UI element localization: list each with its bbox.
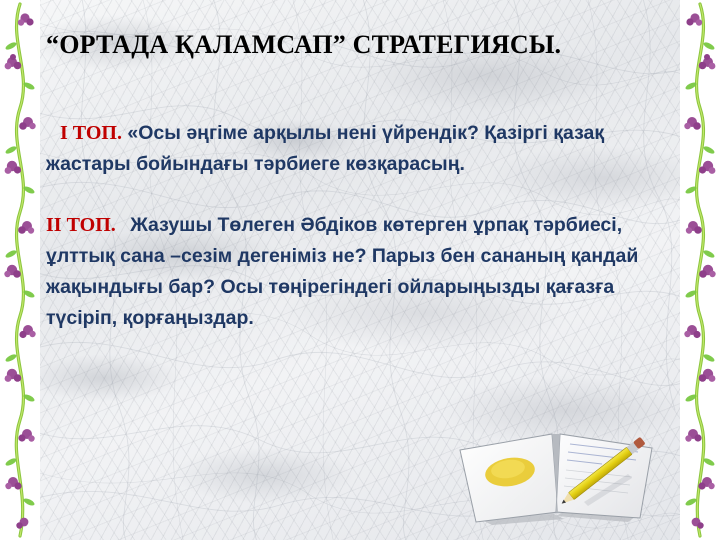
group-tag-1: I ТОП — [60, 122, 117, 144]
floral-vine-icon — [0, 0, 40, 540]
group-tag-2: II ТОП — [46, 214, 111, 236]
open-book-icon — [452, 424, 668, 536]
presentation-slide: “ОРТАДА ҚАЛАМСАП” СТРАТЕГИЯСЫ. I ТОП. «О… — [0, 0, 720, 540]
right-floral-border — [680, 0, 720, 540]
slide-body: I ТОП. «Осы әңгіме арқылы нені үйрендік?… — [46, 118, 646, 346]
paragraph-text-1: «Осы әңгіме арқылы нені үйрендік? Қазірг… — [46, 122, 604, 175]
paragraph-group-2: II ТОП. Жазушы Төлеген Әбдіков көтерген … — [46, 210, 646, 334]
slide-title: “ОРТАДА ҚАЛАМСАП” СТРАТЕГИЯСЫ. — [46, 30, 666, 60]
paragraph-text-2: Жазушы Төлеген Әбдіков көтерген ұрпақ тә… — [46, 214, 638, 329]
floral-vine-icon — [680, 0, 720, 540]
group-tag-1-suffix: . — [117, 122, 122, 144]
open-book-with-pencil-illustration — [452, 424, 668, 536]
group-tag-2-suffix: . — [111, 214, 116, 236]
left-floral-border — [0, 0, 40, 540]
paragraph-group-1: I ТОП. «Осы әңгіме арқылы нені үйрендік?… — [46, 118, 646, 180]
